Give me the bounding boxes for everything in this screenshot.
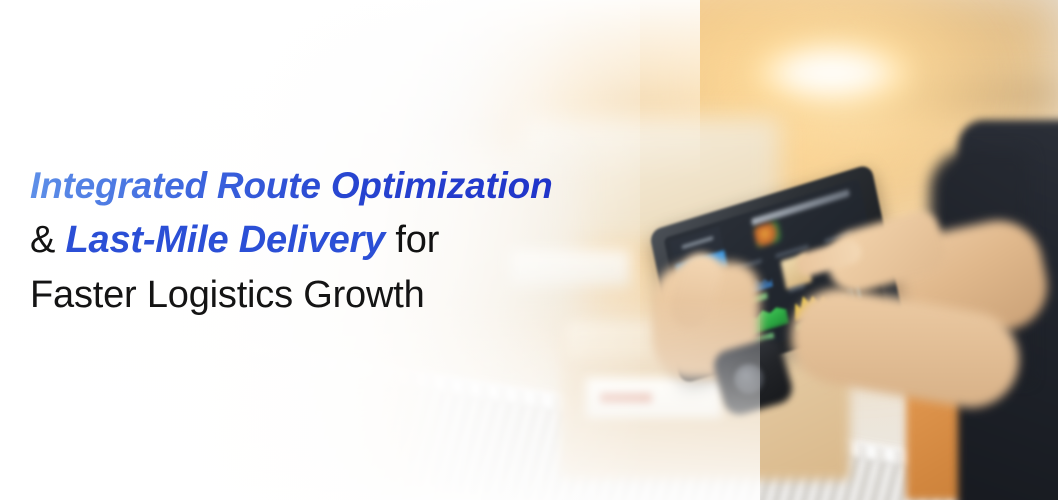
- metric-percent-3: [796, 319, 821, 332]
- orange-crate-side: [960, 400, 1050, 500]
- headline-ampersand: &: [30, 219, 55, 261]
- shipping-label-main: [586, 378, 722, 418]
- hero-banner: Integrated Route Optimization & Last-Mil…: [0, 0, 1058, 500]
- headline-line-1-text: Integrated Route Optimization: [30, 165, 552, 206]
- overhead-light-icon: [752, 40, 912, 106]
- headline-block: Integrated Route Optimization & Last-Mil…: [30, 158, 670, 323]
- headline-emphasis: Last-Mile Delivery: [66, 219, 386, 261]
- shipping-stamp: [600, 393, 652, 403]
- parcel-thumbnail: [781, 253, 812, 289]
- white-fade-top: [0, 0, 700, 180]
- blue-area-chart[interactable]: [735, 268, 774, 297]
- cardboard-box-foreground: [120, 360, 420, 500]
- white-fade-bottom: [0, 300, 760, 500]
- ceiling-rail: [600, 84, 1058, 118]
- tablet-screen[interactable]: [664, 179, 887, 369]
- tablet-device[interactable]: [649, 163, 903, 384]
- widget-label-1: [732, 259, 762, 272]
- delivery-truck-icon: [753, 220, 783, 249]
- headline-line-1: Integrated Route Optimization: [30, 158, 670, 213]
- divider-line: [828, 248, 835, 270]
- yellow-area-chart[interactable]: [790, 286, 830, 322]
- green-area-chart[interactable]: [742, 301, 790, 336]
- conveyor-rollers: [300, 372, 960, 500]
- headline-line-2: & Last-Mile Delivery for: [30, 213, 670, 268]
- headline-line-3-text: Faster Logistics Growth: [30, 274, 425, 316]
- worker-shirt: [958, 120, 1058, 500]
- headline-line-2-suffix: for: [395, 219, 439, 261]
- overhead-light-halo: [700, 0, 990, 170]
- metric-percent-2: [748, 333, 775, 347]
- watch-face: [734, 364, 764, 394]
- conveyor-edge-rail: [250, 346, 950, 473]
- conveyor-bolt-strip: [300, 356, 960, 473]
- conveyor-belt-body: [250, 352, 950, 500]
- headline-line-3: Faster Logistics Growth: [30, 268, 670, 323]
- orange-crate: [906, 368, 1056, 500]
- worker-shoulder: [930, 150, 1030, 380]
- blue-bar-chart[interactable]: [832, 277, 867, 306]
- widget-label-3: [824, 231, 852, 243]
